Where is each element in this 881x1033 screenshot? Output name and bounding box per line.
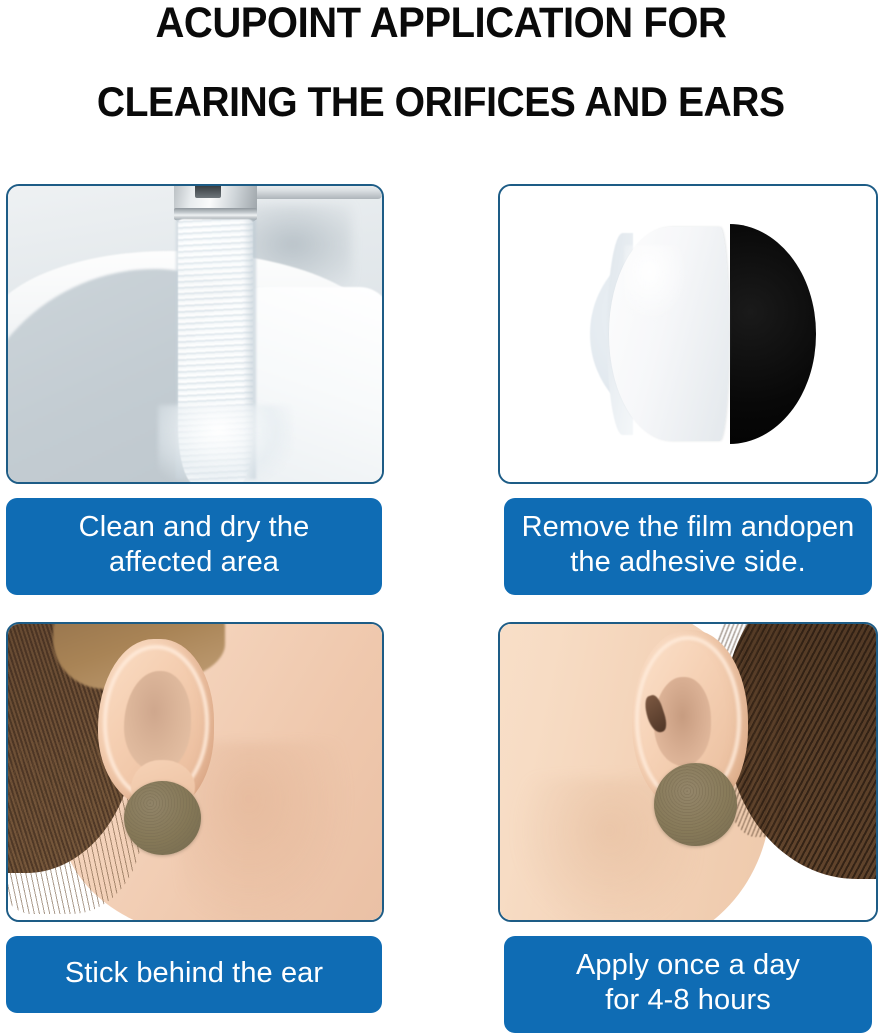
- caption-line: for 4-8 hours: [514, 983, 862, 1018]
- sink-background: [8, 186, 382, 482]
- step-caption-4: Apply once a day for 4-8 hours: [504, 936, 872, 1033]
- ear-scene-light: [8, 624, 382, 920]
- step-card-3: Stick behind the ear: [6, 622, 384, 1013]
- patch-behind-ear-light-hair-photo: [6, 622, 384, 922]
- caption-line: Remove the film andopen: [514, 510, 862, 545]
- patch-highlight: [624, 245, 688, 322]
- caption-line: Clean and dry the: [16, 510, 372, 545]
- title-line-2: CLEARING THE ORIFICES AND EARS: [97, 81, 785, 123]
- step-card-1: Clean and dry the affected area: [6, 184, 384, 595]
- faucet-running-water-photo: [6, 184, 384, 484]
- step-card-4: Apply once a day for 4-8 hours: [498, 622, 878, 1033]
- step-card-2: Remove the film andopen the adhesive sid…: [498, 184, 878, 595]
- step-caption-3: Stick behind the ear: [6, 936, 382, 1013]
- acupoint-patch: [654, 763, 737, 846]
- ear-concha: [124, 671, 191, 772]
- caption-line: affected area: [16, 545, 372, 580]
- faucet-arm: [240, 184, 382, 199]
- caption-line: Stick behind the ear: [16, 956, 372, 991]
- title-line-1: ACUPOINT APPLICATION FOR: [155, 2, 726, 45]
- step-caption-2: Remove the film andopen the adhesive sid…: [504, 498, 872, 595]
- step-caption-1: Clean and dry the affected area: [6, 498, 382, 595]
- page-title: ACUPOINT APPLICATION FOR CLEARING THE OR…: [0, 0, 881, 140]
- caption-line: the adhesive side.: [514, 545, 862, 580]
- patch-stage: [500, 186, 876, 482]
- caption-line: Apply once a day: [514, 948, 862, 983]
- steps-grid: Clean and dry the affected area Remove t…: [0, 170, 881, 1030]
- faucet-dark-detail: [195, 184, 221, 198]
- acupoint-patch: [124, 781, 201, 855]
- water-splash: [158, 405, 293, 484]
- ear-scene-dark: [500, 624, 876, 920]
- patch-peeling-film-photo: [498, 184, 878, 484]
- patch-below-ear-dark-hair-photo: [498, 622, 878, 922]
